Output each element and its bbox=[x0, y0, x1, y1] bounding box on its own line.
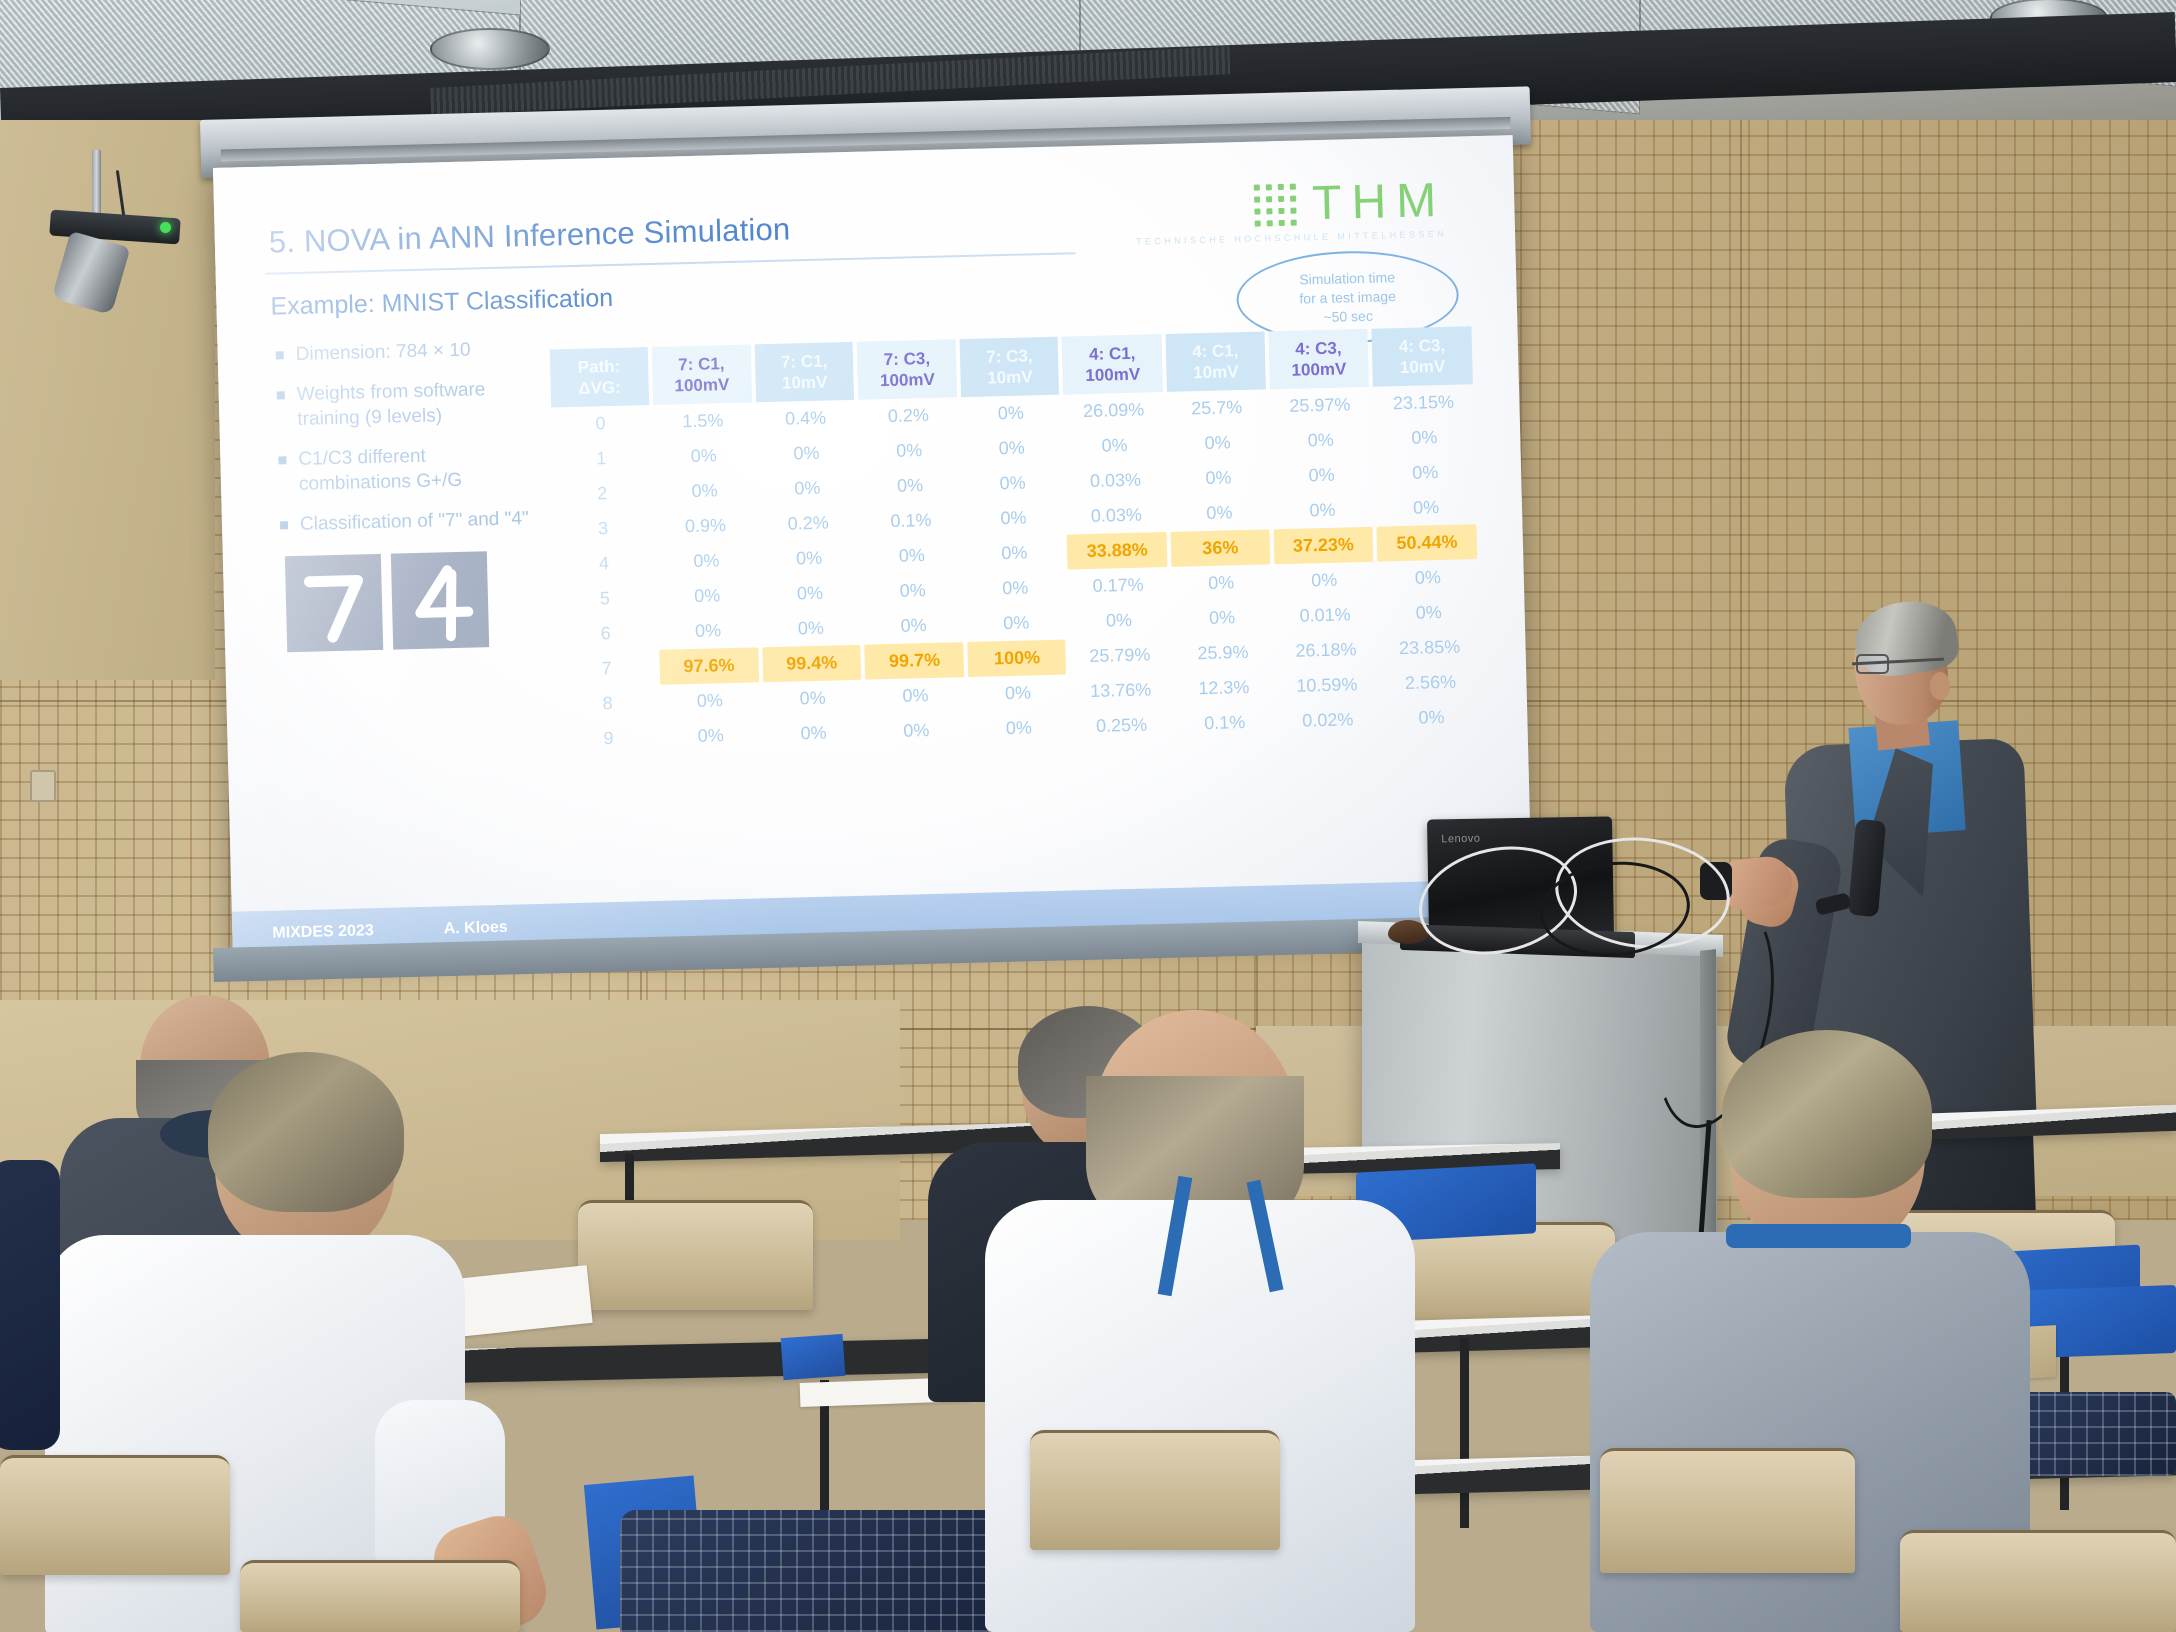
table-cell: 0.25% bbox=[1071, 707, 1171, 745]
table-cell: 0% bbox=[1374, 419, 1475, 457]
bullet-text: Dimension: 784 × 10 bbox=[295, 338, 470, 367]
table-cell: 0.1% bbox=[861, 502, 961, 539]
header-line: 100mV bbox=[656, 374, 747, 397]
table-cell: 25.97% bbox=[1270, 387, 1370, 425]
header-line: 7: C3, bbox=[964, 345, 1055, 368]
chair[interactable] bbox=[1600, 1448, 1855, 1573]
table-header-cell: 7: C3,100mV bbox=[857, 339, 957, 399]
table-cell: 0% bbox=[966, 570, 1065, 607]
table-cell: 0% bbox=[758, 470, 857, 507]
table-cell: 0% bbox=[862, 537, 962, 574]
conference-room-photo: 5. NOVA in ANN Inference Simulation THM … bbox=[0, 0, 2176, 1632]
header-line: 4: C3, bbox=[1376, 334, 1468, 357]
row-index-cell: 5 bbox=[556, 580, 655, 617]
row-index-cell: 0 bbox=[551, 405, 650, 442]
table-cell: 36% bbox=[1171, 529, 1270, 566]
table-cell: 0% bbox=[1376, 489, 1477, 527]
table-cell: 0% bbox=[761, 610, 860, 647]
bullet-item: Classification of "7" and "4" bbox=[280, 506, 543, 538]
row-index-cell: 7 bbox=[557, 650, 656, 687]
table-cell: 0% bbox=[1170, 494, 1269, 531]
table-cell: 1.5% bbox=[653, 402, 753, 439]
table-cell: 0% bbox=[1379, 594, 1480, 632]
row-index-cell: 2 bbox=[553, 475, 652, 512]
table-cell: 0% bbox=[969, 710, 1068, 747]
table-cell: 10.59% bbox=[1277, 667, 1377, 705]
table-cell: 0% bbox=[866, 677, 966, 714]
table-cell: 97.6% bbox=[659, 647, 759, 684]
table-cell: 25.7% bbox=[1167, 389, 1266, 426]
table-cell: 0% bbox=[660, 682, 760, 719]
table-cell: 0% bbox=[763, 680, 862, 717]
table-cell: 0% bbox=[657, 577, 757, 614]
table-cell: 0% bbox=[1378, 559, 1479, 597]
chair[interactable] bbox=[578, 1200, 813, 1310]
row-index-cell: 3 bbox=[554, 510, 653, 547]
table-header-cell: 7: C3,10mV bbox=[960, 337, 1060, 397]
bullet-item: C1/C3 different combinations G+/G bbox=[278, 441, 541, 498]
mnist-digit-4 bbox=[391, 551, 489, 649]
table-cell: 0% bbox=[656, 542, 756, 579]
table-cell: 0% bbox=[967, 605, 1066, 642]
bullet-text: Weights from software training (9 levels… bbox=[296, 376, 539, 432]
table-cell: 23.15% bbox=[1373, 384, 1474, 422]
table-header-cell: 4: C1,10mV bbox=[1166, 331, 1266, 391]
notebook-on-desk bbox=[452, 1265, 592, 1337]
table-cell: 2.56% bbox=[1380, 664, 1481, 702]
table-cell: 0% bbox=[1069, 602, 1169, 640]
table-cell: 0% bbox=[1381, 699, 1482, 737]
bullet-item: Dimension: 784 × 10 bbox=[275, 336, 538, 368]
table-cell: 0% bbox=[965, 535, 1064, 572]
plaid-jacket-on-chair bbox=[620, 1510, 1040, 1632]
table-header-cell: Path:ΔVG: bbox=[550, 347, 649, 407]
row-index-cell: 8 bbox=[558, 685, 657, 722]
thm-logo: THM bbox=[1254, 173, 1447, 233]
table-cell: 0% bbox=[1064, 427, 1164, 465]
thm-wordmark: THM bbox=[1312, 173, 1447, 231]
laptop-brand-label: Lenovo bbox=[1441, 833, 1480, 846]
presentation-slide: 5. NOVA in ANN Inference Simulation THM … bbox=[213, 135, 1533, 958]
chair[interactable] bbox=[1030, 1430, 1280, 1550]
table-cell: 0% bbox=[1272, 492, 1372, 530]
table-cell: 12.3% bbox=[1174, 669, 1273, 706]
table-cell: 0% bbox=[1171, 564, 1270, 601]
audience-hair bbox=[208, 1052, 404, 1212]
table-cell: 37.23% bbox=[1273, 527, 1373, 565]
audience-hair bbox=[1722, 1030, 1932, 1198]
table-cell: 0% bbox=[964, 500, 1063, 537]
ceiling-light bbox=[430, 28, 550, 70]
table-cell: 0.03% bbox=[1065, 462, 1165, 500]
table-header-cell: 4: C1,100mV bbox=[1062, 334, 1163, 395]
table-cell: 26.18% bbox=[1276, 632, 1376, 670]
header-line: 4: C1, bbox=[1170, 340, 1261, 363]
table-cell: 0% bbox=[658, 612, 758, 649]
header-line: 4: C1, bbox=[1066, 342, 1158, 365]
header-line: 100mV bbox=[1273, 358, 1365, 381]
chair[interactable] bbox=[0, 1455, 230, 1575]
header-line: 7: C1, bbox=[656, 353, 747, 376]
row-index-cell: 6 bbox=[556, 615, 655, 652]
spotlight-led-indicator bbox=[160, 222, 171, 233]
footer-event: MIXDES 2023 bbox=[272, 922, 374, 943]
table-cell: 0% bbox=[968, 675, 1067, 712]
row-index-cell: 4 bbox=[555, 545, 654, 582]
table-cell: 0% bbox=[961, 395, 1060, 432]
table-cell: 13.76% bbox=[1071, 672, 1171, 710]
slide-subtitle: Example: MNIST Classification bbox=[270, 284, 613, 322]
table-cell: 0% bbox=[1270, 422, 1370, 460]
callout-line-1: Simulation time bbox=[1299, 268, 1395, 289]
header-line: 7: C3, bbox=[861, 347, 952, 370]
table-cell: 0.4% bbox=[756, 400, 855, 437]
presenter-ear bbox=[1930, 672, 1950, 700]
chair[interactable] bbox=[240, 1560, 520, 1632]
wall-panel-upper-left bbox=[0, 120, 215, 680]
table-cell: 33.88% bbox=[1067, 532, 1167, 570]
row-index-cell: 9 bbox=[559, 720, 658, 757]
footer-author: A. Kloes bbox=[444, 919, 508, 939]
table-cell: 99.7% bbox=[865, 642, 965, 679]
table-header-cell: 4: C3,10mV bbox=[1372, 326, 1473, 387]
header-line: 4: C3, bbox=[1272, 337, 1364, 360]
table-cell: 25.9% bbox=[1173, 634, 1272, 671]
mnist-digit-7 bbox=[285, 554, 383, 652]
header-line: ΔVG: bbox=[554, 376, 644, 399]
bullet-square-icon bbox=[280, 521, 288, 529]
table-cell: 50.44% bbox=[1377, 524, 1478, 562]
table-cell: 100% bbox=[968, 640, 1067, 677]
callout-line-3: ~50 sec bbox=[1323, 306, 1373, 326]
table-cell: 23.85% bbox=[1379, 629, 1480, 667]
table-cell: 0% bbox=[1172, 599, 1271, 636]
header-line: Path: bbox=[554, 355, 644, 378]
table-header-cell: 7: C1,10mV bbox=[754, 342, 854, 402]
table-cell: 0.1% bbox=[1175, 704, 1274, 741]
table-cell: 0% bbox=[1169, 459, 1268, 496]
thm-dot-grid-icon bbox=[1254, 183, 1297, 226]
bullet-text: C1/C3 different combinations G+/G bbox=[298, 441, 541, 497]
table-header-cell: 4: C3,100mV bbox=[1268, 329, 1369, 390]
blue-folder-small bbox=[781, 1334, 846, 1380]
header-line: 10mV bbox=[1170, 361, 1261, 384]
header-line: 10mV bbox=[965, 366, 1056, 389]
audience-torso-white-shirt bbox=[985, 1200, 1415, 1632]
bullet-square-icon bbox=[277, 391, 285, 399]
table-cell: 0.01% bbox=[1275, 597, 1375, 635]
table-cell: 0.02% bbox=[1278, 702, 1378, 740]
projection-screen: 5. NOVA in ANN Inference Simulation THM … bbox=[213, 135, 1533, 958]
table-cell: 0% bbox=[866, 712, 966, 749]
table-cell: 0% bbox=[655, 472, 755, 509]
table-cell: 0% bbox=[661, 717, 761, 754]
header-line: 100mV bbox=[1067, 363, 1159, 386]
bullet-text: Classification of "7" and "4" bbox=[300, 506, 529, 537]
table-cell: 0% bbox=[859, 432, 959, 469]
table-cell: 0% bbox=[1375, 454, 1476, 492]
bullet-square-icon bbox=[276, 351, 284, 359]
bullet-item: Weights from software training (9 levels… bbox=[276, 376, 539, 433]
table-cell: 0% bbox=[757, 435, 856, 472]
table-cell: 0% bbox=[760, 575, 859, 612]
bullet-square-icon bbox=[278, 456, 286, 464]
table-cell: 0% bbox=[963, 465, 1062, 502]
table-cell: 0% bbox=[1271, 457, 1371, 495]
header-line: 7: C1, bbox=[759, 350, 850, 373]
table-cell: 99.4% bbox=[762, 645, 861, 682]
table-cell: 0% bbox=[654, 437, 754, 474]
table-cell: 0.2% bbox=[759, 505, 858, 542]
slide-title: 5. NOVA in ANN Inference Simulation bbox=[268, 211, 790, 260]
table-cell: 0% bbox=[864, 607, 964, 644]
header-line: 100mV bbox=[862, 368, 953, 391]
table-header-cell: 7: C1,100mV bbox=[651, 344, 751, 404]
table-cell: 0% bbox=[764, 715, 863, 752]
mnist-digit-images bbox=[285, 551, 489, 652]
spotlight-mount bbox=[92, 150, 101, 220]
table-cell: 0% bbox=[860, 467, 960, 504]
table-cell: 25.79% bbox=[1070, 637, 1170, 675]
wall-outlet bbox=[30, 770, 56, 802]
chair[interactable] bbox=[1900, 1530, 2176, 1632]
callout-line-2: for a test image bbox=[1299, 287, 1396, 308]
table-cell: 0.17% bbox=[1068, 567, 1168, 605]
table-cell: 26.09% bbox=[1063, 392, 1163, 430]
table-cell: 0.03% bbox=[1066, 497, 1166, 535]
table-cell: 0% bbox=[759, 540, 858, 577]
table-cell: 0.2% bbox=[858, 397, 958, 434]
header-line: 10mV bbox=[1376, 355, 1468, 378]
inference-results-table: Path:ΔVG:7: C1,100mV7: C1,10mV7: C3,100m… bbox=[546, 326, 1486, 757]
table-cell: 0% bbox=[1274, 562, 1374, 600]
header-line: 10mV bbox=[759, 371, 850, 394]
bullet-list: Dimension: 784 × 10 Weights from softwar… bbox=[275, 336, 542, 553]
table-cell: 0% bbox=[863, 572, 963, 609]
shirt-collar-blue bbox=[1726, 1224, 1911, 1248]
row-index-cell: 1 bbox=[552, 440, 651, 477]
table-cell: 0% bbox=[1168, 424, 1267, 461]
table-cell: 0.9% bbox=[656, 507, 756, 544]
dark-jacket-left bbox=[0, 1160, 60, 1450]
table-cell: 0% bbox=[962, 430, 1061, 467]
